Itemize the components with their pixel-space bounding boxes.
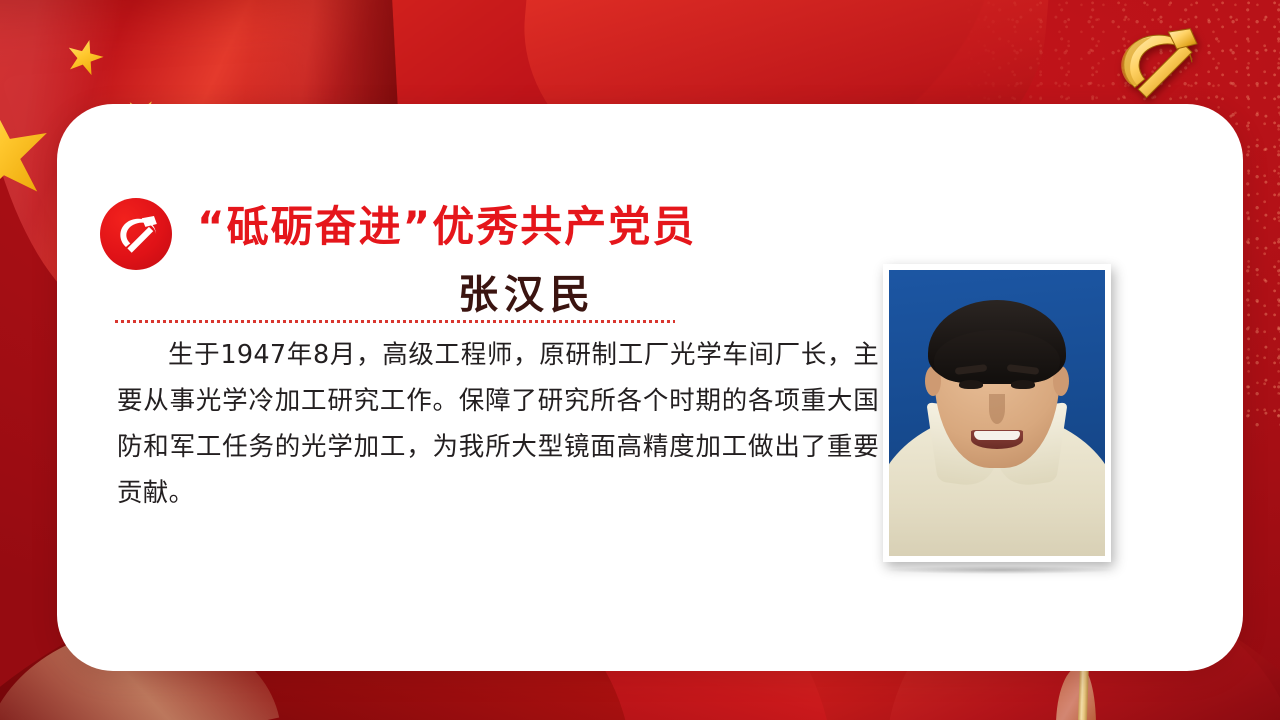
portrait-mouth [971, 430, 1023, 449]
portrait-nose [989, 394, 1005, 424]
portrait-photo-frame [883, 264, 1111, 562]
page-title: “砥砺奋进”优秀共产党员 [197, 202, 917, 252]
gold-hammer-sickle-emblem-icon [1106, 22, 1214, 106]
portrait-eye-left [959, 380, 983, 389]
person-name: 张汉民 [197, 262, 857, 320]
dotted-divider [115, 320, 675, 323]
content-card: “砥砺奋进”优秀共产党员 张汉民 生于1947年8月，高级工程师，原研制工厂光学… [57, 104, 1243, 671]
portrait-eye-right [1011, 380, 1035, 389]
biography-text: 生于1947年8月，高级工程师，原研制工厂光学车间厂长，主要从事光学冷加工研究工… [117, 332, 879, 516]
portrait-hair [928, 300, 1066, 384]
portrait-shadow [887, 566, 1113, 574]
party-badge-icon [100, 198, 172, 270]
portrait-photo [889, 270, 1105, 556]
slide-root: “砥砺奋进”优秀共产党员 张汉民 生于1947年8月，高级工程师，原研制工厂光学… [0, 0, 1280, 720]
portrait-teeth [974, 431, 1020, 440]
